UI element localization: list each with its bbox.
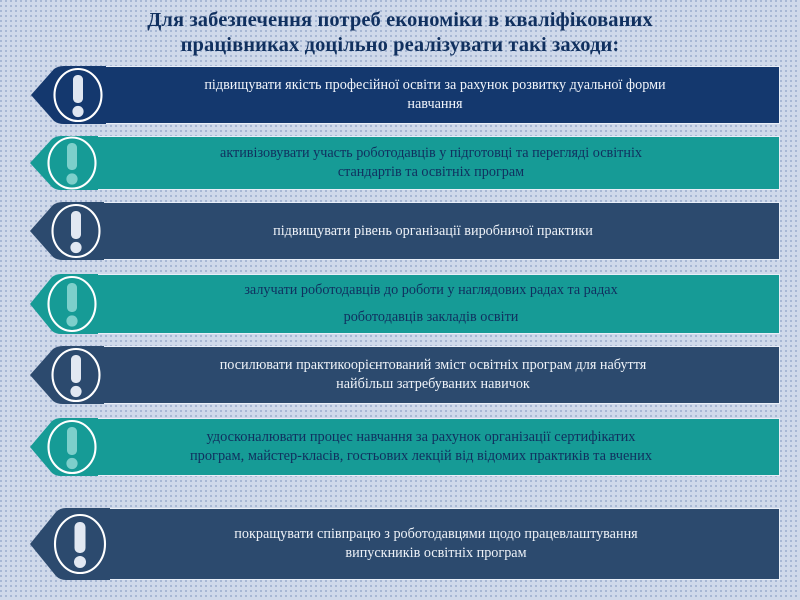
exclamation-mark-icon-5: [50, 347, 102, 403]
banner-bar-7: покращувати співпрацю з роботодавцями що…: [92, 508, 780, 580]
exclamation-mark-icon-7: [52, 513, 108, 575]
slide-canvas: Для забезпечення потреб економіки в квал…: [0, 0, 800, 600]
banner-row-4[interactable]: залучати роботодавців до роботи у нагляд…: [28, 274, 780, 334]
banner-bar-2: активізовувати участь роботодавців у під…: [82, 136, 780, 190]
banner-text-2: активізовувати участь роботодавців у під…: [83, 144, 779, 182]
exclamation-mark-icon-2: [46, 136, 98, 190]
banner-text-4: залучати роботодавців до роботи у нагляд…: [83, 277, 779, 331]
banner-row-1[interactable]: підвищувати якість професійної освіти за…: [28, 66, 780, 124]
slide-title: Для забезпечення потреб економіки в квал…: [0, 8, 800, 58]
exclamation-mark-icon-3: [50, 203, 102, 259]
title-line-1: Для забезпечення потреб економіки в квал…: [40, 8, 760, 33]
banner-text-5: посилювати практикоорієнтований зміст ос…: [87, 356, 779, 394]
banner-row-2[interactable]: активізовувати участь роботодавців у під…: [28, 136, 780, 190]
banner-bar-3: підвищувати рівень організації виробничо…: [86, 202, 780, 260]
banner-bar-5: посилювати практикоорієнтований зміст ос…: [86, 346, 780, 404]
banner-text-1: підвищувати якість професійної освіти за…: [91, 76, 779, 114]
banner-text-7: покращувати співпрацю з роботодавцями що…: [93, 525, 779, 563]
banner-row-5[interactable]: посилювати практикоорієнтований зміст ос…: [28, 346, 780, 404]
title-line-2: працівниках доцільно реалізувати такі за…: [40, 33, 760, 58]
banner-row-7[interactable]: покращувати співпрацю з роботодавцями що…: [28, 508, 780, 580]
banner-bar-1: підвищувати якість професійної освіти за…: [90, 66, 780, 124]
banner-bar-6: удосконалювати процес навчання за рахуно…: [82, 418, 780, 476]
exclamation-mark-icon-1: [52, 67, 104, 123]
banner-row-3[interactable]: підвищувати рівень організації виробничо…: [28, 202, 780, 260]
banner-text-3: підвищувати рівень організації виробничо…: [87, 222, 779, 241]
banner-row-6[interactable]: удосконалювати процес навчання за рахуно…: [28, 418, 780, 476]
banner-bar-4: залучати роботодавців до роботи у нагляд…: [82, 274, 780, 334]
exclamation-mark-icon-4: [46, 275, 98, 333]
exclamation-mark-icon-6: [46, 419, 98, 475]
banner-text-6: удосконалювати процес навчання за рахуно…: [73, 428, 769, 466]
